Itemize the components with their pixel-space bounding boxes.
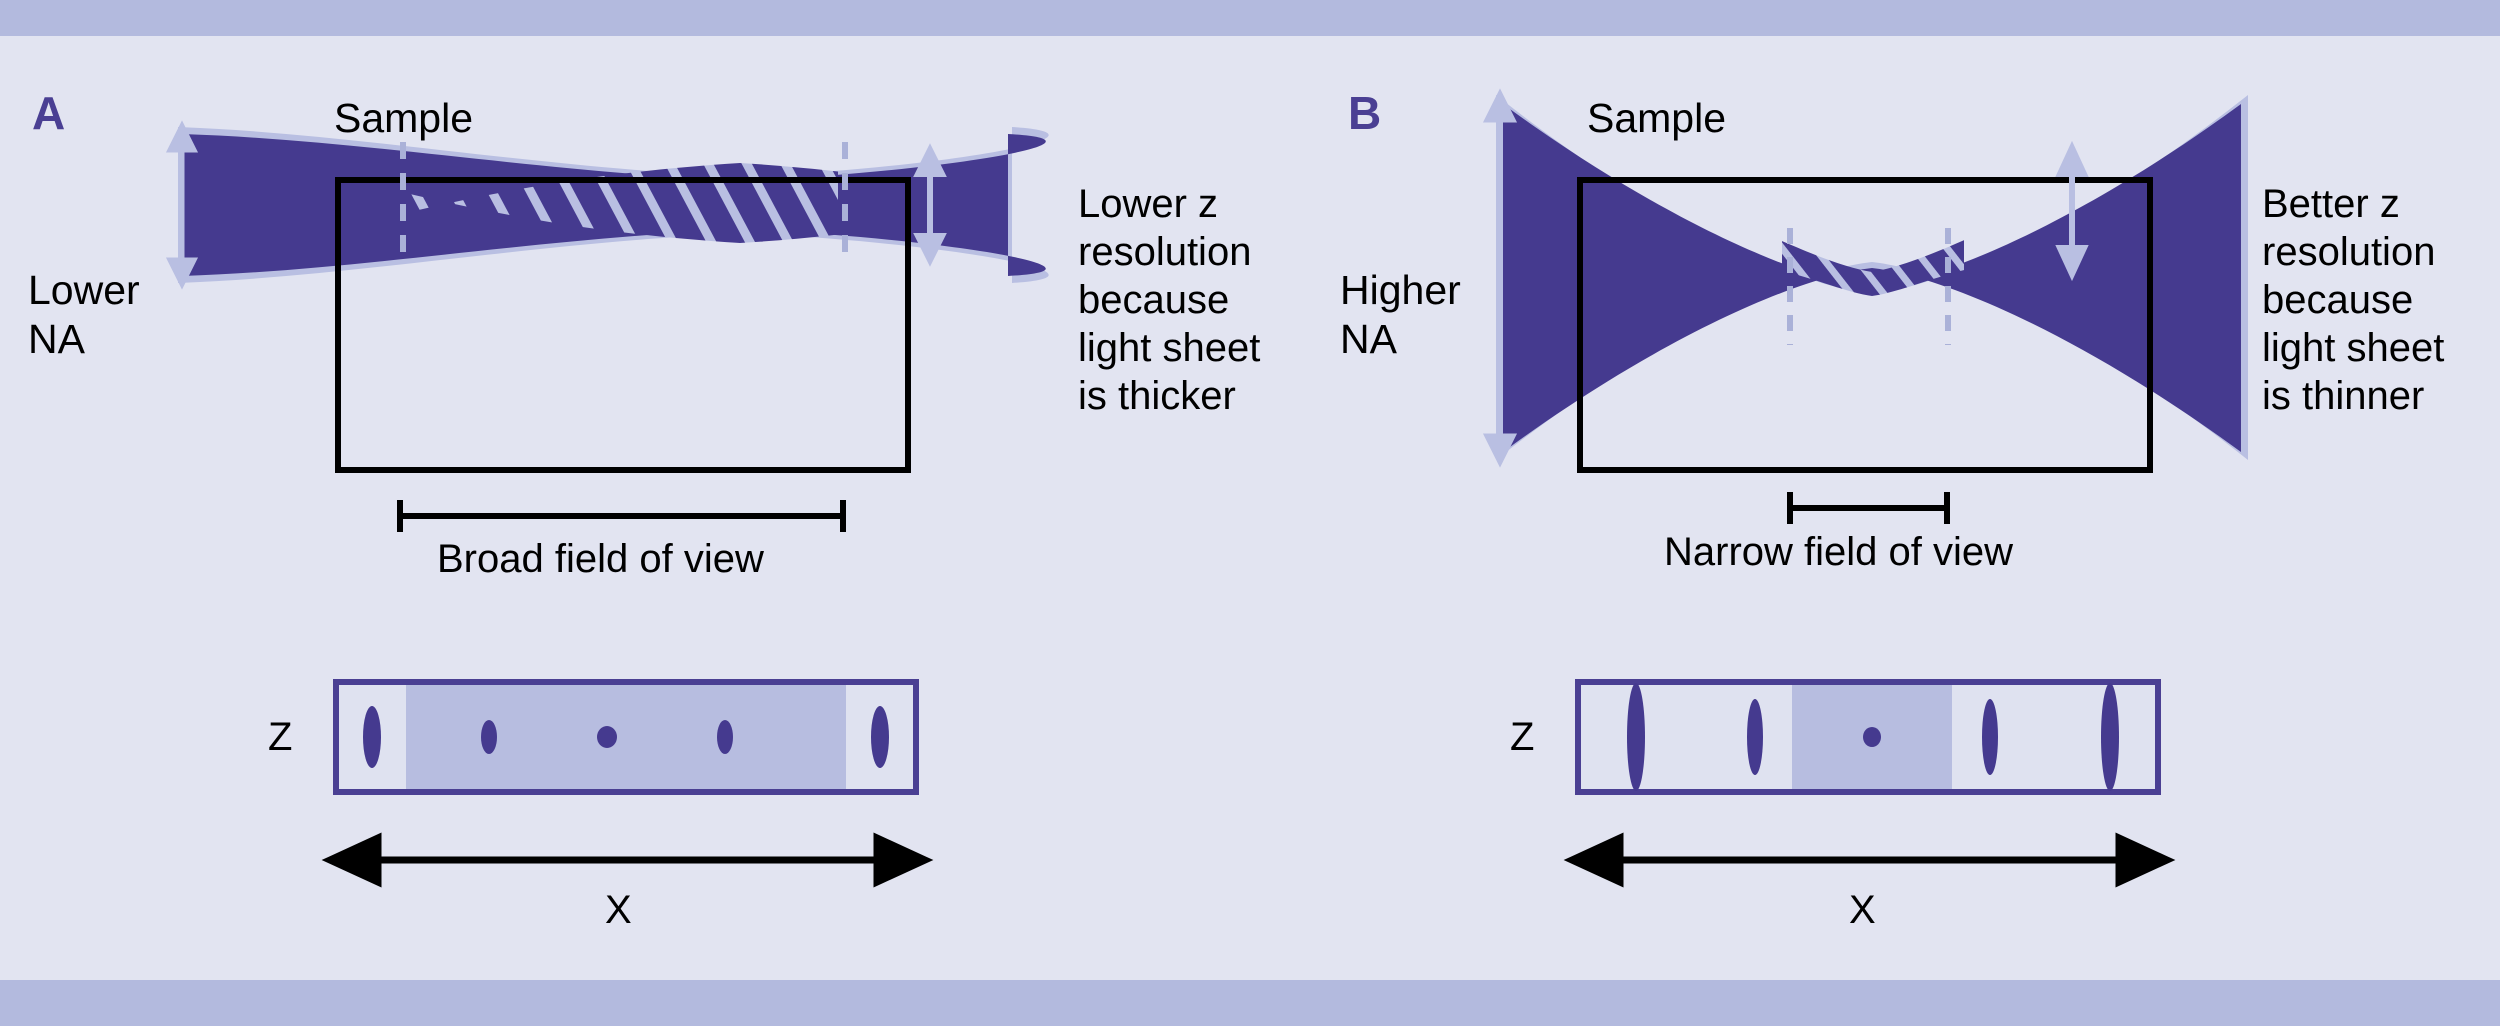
psf-ellipse xyxy=(363,706,381,768)
panel-label-b: B xyxy=(1348,90,1381,136)
psf-ellipse xyxy=(2101,683,2119,791)
waist-hatch-region-b xyxy=(1782,230,1964,340)
psf-ellipse xyxy=(1747,699,1763,775)
note-text-a: Lower z resolution because light sheet i… xyxy=(1078,180,1260,420)
panel-label-a: A xyxy=(32,90,65,136)
fov-bracket-b xyxy=(1790,492,1947,524)
psf-ellipse xyxy=(1627,683,1645,791)
psf-ellipse xyxy=(717,720,733,754)
psf-ellipse xyxy=(1863,727,1881,747)
psf-ellipse xyxy=(597,726,617,748)
psf-ellipse xyxy=(1982,699,1998,775)
x-axis-label-a: X xyxy=(605,886,632,934)
fov-label-a: Broad field of view xyxy=(437,535,764,583)
figure-root: A Sample Lower NA Lower z resolution bec… xyxy=(0,0,2500,1026)
panel-a-psf-group xyxy=(330,682,925,882)
sample-label-a: Sample xyxy=(334,94,473,143)
x-axis-label-b: X xyxy=(1849,886,1876,934)
diagram-graphics xyxy=(0,0,2500,1026)
na-label-a: Lower NA xyxy=(28,266,140,364)
psf-fov-band-a xyxy=(406,685,846,789)
na-label-b: Higher NA xyxy=(1340,266,1461,364)
sample-label-b: Sample xyxy=(1587,94,1726,143)
x-axis-arrow-a xyxy=(330,838,925,882)
psf-ellipse xyxy=(871,706,889,768)
z-axis-label-b: Z xyxy=(1510,713,1534,761)
panel-a-beam-group xyxy=(170,120,1049,532)
panel-b-psf-group xyxy=(1572,682,2167,882)
fov-label-b: Narrow field of view xyxy=(1664,528,2013,576)
panel-b-beam-group xyxy=(1487,94,2248,524)
note-text-b: Better z resolution because light sheet … xyxy=(2262,180,2444,420)
fov-bracket-a xyxy=(400,500,843,532)
z-axis-label-a: Z xyxy=(268,713,292,761)
psf-ellipse xyxy=(481,720,497,754)
x-axis-arrow-b xyxy=(1572,838,2167,882)
